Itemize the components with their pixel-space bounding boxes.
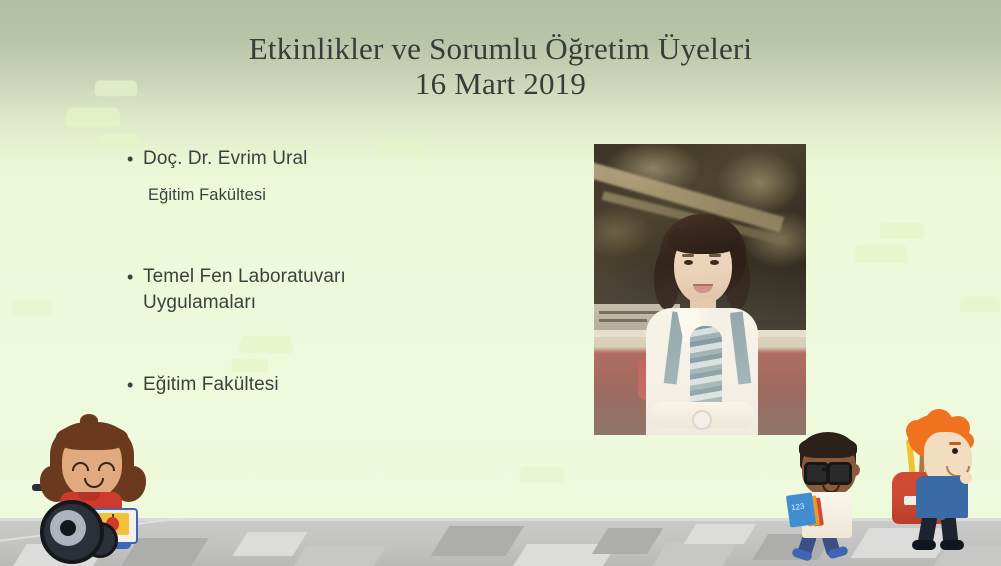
cartoon-boy-with-glasses: 123 — [782, 432, 874, 550]
cartoon-boy-with-backpack — [880, 414, 992, 552]
boy2-eye — [952, 448, 958, 454]
background-brick — [377, 140, 425, 156]
background-brick — [959, 296, 1001, 312]
floor-tile — [592, 528, 663, 554]
bullet-item-1: • Doç. Dr. Evrim Ural Eğitim Fakültesi — [127, 146, 307, 207]
portrait-photo — [594, 144, 806, 435]
background-brick — [239, 336, 294, 354]
photo-light-haze — [594, 144, 806, 435]
floor-tile — [653, 542, 738, 566]
glasses-lens-left-icon — [804, 462, 829, 485]
bullet-marker-icon: • — [127, 372, 143, 398]
bullet-item-3: • Eğitim Fakültesi — [127, 372, 279, 398]
title-line-2: 16 Mart 2019 — [0, 67, 1001, 102]
presentation-slide: Etkinlikler ve Sorumlu Öğretim Üyeleri 1… — [0, 0, 1001, 566]
wheelchair-wheel-hub — [60, 520, 76, 536]
floor-tile — [431, 526, 525, 556]
boy2-eyebrow — [949, 442, 961, 445]
glasses-lens-right-icon — [827, 462, 852, 485]
bullet-text-3: Eğitim Fakültesi — [143, 372, 279, 398]
bullet-text-2: Temel Fen Laboratuvarı Uygulamaları — [143, 264, 346, 316]
glasses-bridge-icon — [822, 468, 829, 471]
background-brick — [879, 223, 925, 240]
bullet-marker-icon: • — [127, 146, 143, 172]
bullet-text-1: Doç. Dr. Evrim Ural — [143, 146, 307, 172]
bullet-item-2: • Temel Fen Laboratuvarı Uygulamaları — [127, 264, 346, 316]
boy1-hair-top — [799, 436, 857, 458]
background-brick — [519, 466, 565, 482]
girl-hair-fringe — [56, 424, 128, 450]
boy2-hand — [960, 472, 972, 484]
background-brick — [11, 300, 53, 315]
background-brick — [65, 108, 122, 128]
bullet-marker-icon: • — [127, 264, 143, 290]
background-brick — [231, 358, 268, 372]
slide-title: Etkinlikler ve Sorumlu Öğretim Üyeleri 1… — [0, 32, 1001, 101]
background-brick — [854, 245, 909, 264]
bullet-subtext-1: Eğitim Fakültesi — [148, 183, 307, 207]
floor-tile — [684, 524, 756, 544]
cartoon-wheelchair-girl — [22, 418, 162, 543]
boy2-shoe-right — [940, 540, 964, 550]
title-line-1: Etkinlikler ve Sorumlu Öğretim Üyeleri — [0, 32, 1001, 67]
floor-tile — [233, 532, 308, 556]
floor-tile — [294, 546, 386, 566]
boy2-shoe-left — [912, 540, 936, 550]
